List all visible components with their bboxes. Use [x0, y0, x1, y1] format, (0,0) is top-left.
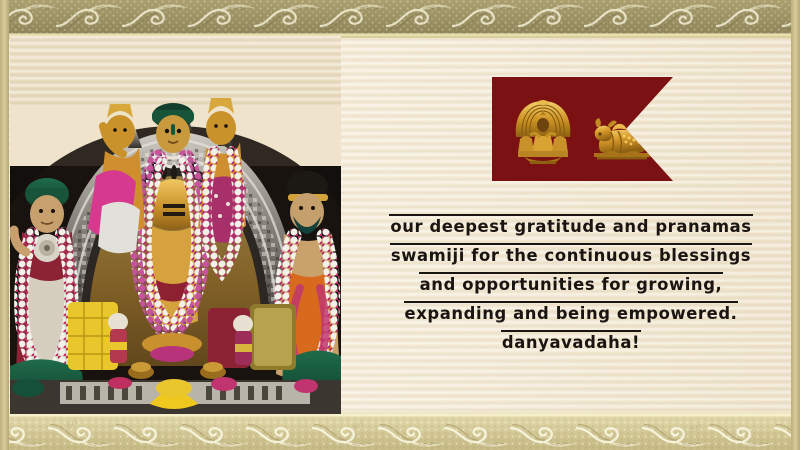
gratitude-message: our deepest gratitude and pranamas swami…: [350, 212, 792, 357]
left-edge-gold-strip: [0, 0, 9, 450]
message-line-5: danyavadaha!: [350, 328, 792, 357]
right-edge-gold-strip: [791, 0, 800, 450]
bottom-border-swirl-pattern: [0, 414, 800, 450]
organisation-flag-emblem: [492, 77, 673, 181]
temple-deities-photo: [10, 36, 341, 414]
message-line-2: swamiji for the continuous blessings: [350, 241, 792, 270]
seated-deity-icon: [512, 99, 574, 165]
top-decorative-border: [0, 0, 800, 38]
top-border-swirl-pattern: [0, 0, 800, 36]
greeting-card: our deepest gratitude and pranamas swami…: [0, 0, 800, 450]
message-line-3: and opportunities for growing,: [350, 270, 792, 299]
message-line-4: expanding and being empowered.: [350, 299, 792, 328]
deities-illustration: [10, 36, 341, 414]
nandi-bull-icon: [588, 111, 654, 161]
bottom-decorative-border: [0, 412, 800, 450]
message-line-1: our deepest gratitude and pranamas: [350, 212, 792, 241]
